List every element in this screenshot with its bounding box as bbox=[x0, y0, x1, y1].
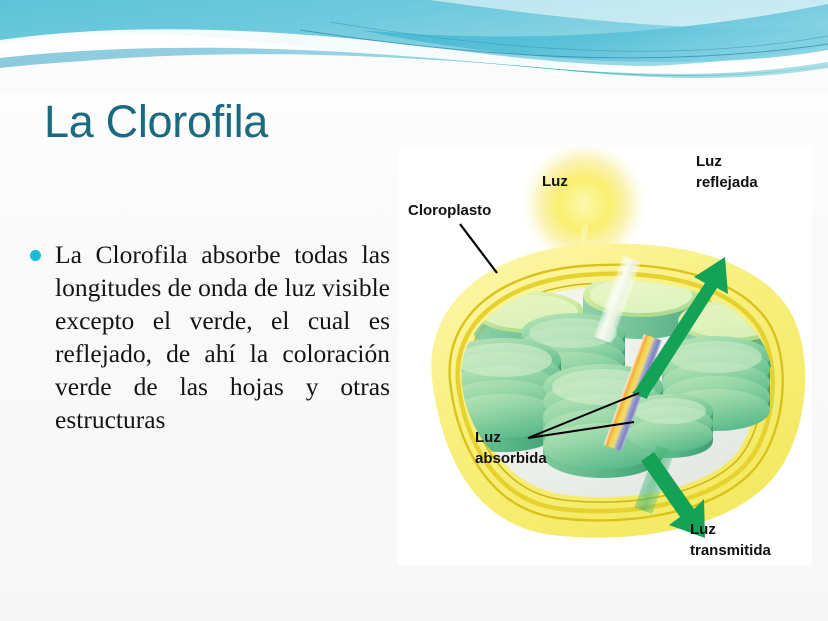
header-wave-decoration bbox=[0, 0, 828, 92]
chloroplast-diagram: Luz Cloroplasto Luz reflejada Luz absorb… bbox=[398, 147, 812, 565]
absorbed-label-line2: absorbida bbox=[475, 450, 547, 467]
transmitted-label-line2: transmitida bbox=[690, 542, 772, 559]
bullet-list-item: La Clorofila absorbe todas las longitude… bbox=[30, 238, 390, 469]
transmitted-label-line1: Luz bbox=[690, 521, 716, 538]
bullet-dot-icon bbox=[30, 250, 41, 261]
absorbed-label-line1: Luz bbox=[475, 429, 501, 446]
content-placeholder: La Clorofila absorbe todas las longitude… bbox=[30, 238, 390, 469]
sun-label: Luz bbox=[542, 173, 568, 190]
page-title: La Clorofila bbox=[44, 96, 268, 148]
bullet-paragraph-text: La Clorofila absorbe todas las longitude… bbox=[55, 238, 390, 469]
reflected-label-line2: reflejada bbox=[696, 174, 758, 191]
slide-canvas: La Clorofila La Clorofila absorbe todas … bbox=[0, 0, 828, 621]
reflected-label-line1: Luz bbox=[696, 153, 722, 170]
cloroplasto-label: Cloroplasto bbox=[408, 202, 491, 219]
